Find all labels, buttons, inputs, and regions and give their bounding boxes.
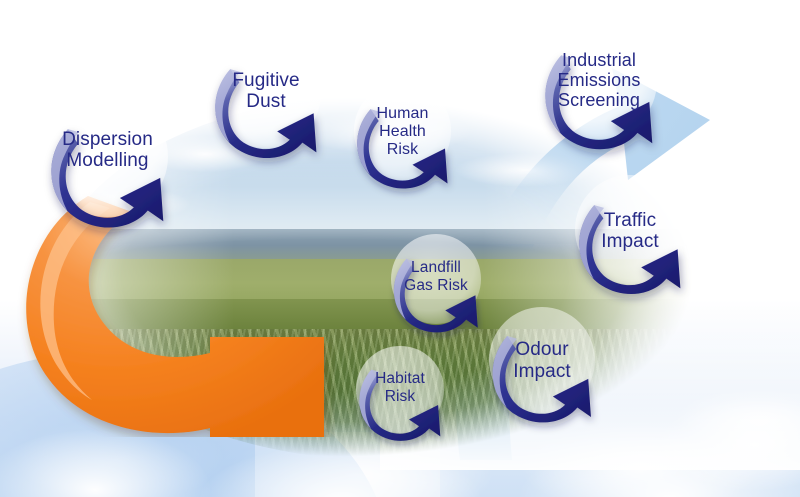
- circular-arrow-icon: [344, 340, 456, 452]
- node-human-health-risk[interactable]: Human Health Risk: [340, 76, 465, 201]
- circular-arrow-icon: [560, 168, 700, 308]
- circular-arrow-icon: [340, 76, 465, 201]
- circular-arrow-icon: [196, 32, 336, 172]
- circular-arrow-icon: [474, 300, 610, 436]
- node-habitat-risk[interactable]: Habitat Risk: [344, 340, 456, 452]
- circular-arrow-icon: [30, 88, 185, 243]
- node-dispersion-modelling[interactable]: Dispersion Modelling: [30, 88, 185, 243]
- diagram-canvas: Dispersion ModellingFugitive DustHuman H…: [0, 0, 800, 497]
- node-traffic-impact[interactable]: Traffic Impact: [560, 168, 700, 308]
- node-industrial-emissions-screening[interactable]: Industrial Emissions Screening: [525, 16, 673, 164]
- node-odour-impact[interactable]: Odour Impact: [474, 300, 610, 436]
- node-fugitive-dust[interactable]: Fugitive Dust: [196, 32, 336, 172]
- circular-arrow-icon: [525, 16, 673, 164]
